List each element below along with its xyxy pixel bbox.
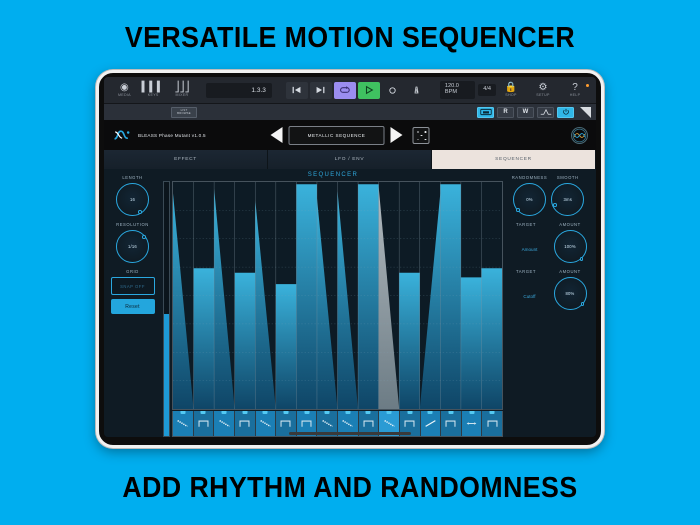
step-handle-10[interactable]: [366, 411, 371, 414]
target2-label: TARGET: [506, 269, 546, 274]
sequencer-step-6[interactable]: [276, 284, 297, 409]
sequencer-step-7[interactable]: [296, 184, 317, 409]
metronome-icon: [412, 85, 421, 95]
step-handle-9[interactable]: [345, 411, 350, 414]
promo-headline-bottom: ADD RHYTHM AND RANDOMNESS: [28, 474, 672, 503]
shop-button-label: SHOP: [505, 93, 516, 97]
panel-resize-handle[interactable]: [580, 107, 591, 118]
amount1-label: AMOUNT: [550, 222, 590, 227]
shape-cell-5[interactable]: [256, 411, 277, 436]
mixer-button[interactable]: ⎦⎦⎦ MIXER: [168, 83, 197, 97]
shape-cell-3[interactable]: [214, 411, 235, 436]
output-level-meter: [163, 181, 170, 437]
shape-icon-ramp-down: [321, 418, 334, 429]
tab-sequencer[interactable]: SEQUENCER: [432, 150, 596, 169]
sequencer-title: SEQUENCER: [163, 172, 503, 178]
sequencer-step-15[interactable]: [461, 277, 482, 409]
shape-icon-ramp-down: [176, 418, 189, 429]
plugin-tab-bar: EFFECT LFO / ENV SEQUENCER: [104, 150, 596, 169]
amount2-label: AMOUNT: [550, 269, 590, 274]
plugin-title: BLEASS Phase Mutant v1.0.5: [138, 133, 206, 138]
sequencer-step-2[interactable]: [194, 268, 215, 409]
amount2-value: 80%: [566, 291, 575, 296]
amount1-knob[interactable]: 100%: [554, 230, 587, 263]
randomness-knob-indicator: [516, 208, 520, 212]
gear-icon: ⚙: [539, 83, 548, 92]
write-automation-button[interactable]: W: [517, 107, 534, 118]
smooth-label: SMOOTH: [557, 175, 579, 180]
shape-icon-line: [465, 418, 478, 429]
bleass-badge[interactable]: [571, 127, 588, 144]
sequencer-step-14[interactable]: [440, 184, 461, 409]
shop-bag-icon: 🔒: [505, 83, 517, 92]
shape-cell-15[interactable]: [462, 411, 483, 436]
transport-controls: [286, 82, 428, 99]
help-button-label: HELP: [570, 93, 581, 97]
shape-icon-square: [279, 418, 292, 429]
randomness-control: RANDOMNESS 0%: [512, 175, 548, 222]
step-handle-8[interactable]: [325, 411, 330, 414]
tablet-device-frame: ◉ MEDIA ▍▍▍ KEYS ⎦⎦⎦ MIXER 1.3.3: [96, 70, 604, 448]
setup-button-label: SETUP: [536, 93, 549, 97]
length-knob[interactable]: 16: [116, 183, 149, 216]
shape-icon-ramp-up: [424, 418, 437, 429]
sequencer-step-16[interactable]: [481, 268, 502, 409]
shape-icon-ramp-down: [383, 418, 396, 429]
target1-value[interactable]: Amount: [510, 247, 550, 252]
sequencer-grid-wrapper: [163, 181, 503, 437]
step-handle-16[interactable]: [490, 411, 495, 414]
record-circle-icon: [388, 86, 397, 95]
shape-cell-13[interactable]: [421, 411, 442, 436]
tablet-screen: ◉ MEDIA ▍▍▍ KEYS ⎦⎦⎦ MIXER 1.3.3: [104, 77, 596, 437]
setup-button[interactable]: ⚙ SETUP: [528, 83, 558, 97]
sequencer-grid-area: [172, 181, 503, 437]
power-icon: [562, 108, 570, 116]
record-button[interactable]: [382, 82, 404, 99]
read-automation-button[interactable]: R: [497, 107, 514, 118]
smooth-knob[interactable]: 3ms: [551, 183, 584, 216]
panel-right-edge: [591, 171, 596, 437]
step-handle-3[interactable]: [222, 411, 227, 414]
media-disc-icon: ◉: [120, 83, 129, 92]
tempo-section: 120.0 BPM 4/4: [440, 81, 496, 98]
preset-navigator: METALLIC SEQUENCE: [271, 126, 430, 145]
shape-icon-square: [300, 418, 313, 429]
sequencer-step-canvas[interactable]: [172, 181, 503, 410]
sequencer-waveform[interactable]: [173, 182, 502, 409]
amount2-knob[interactable]: 80%: [554, 277, 587, 310]
piano-keys-icon: ▍▍▍: [142, 83, 165, 92]
length-value: 16: [130, 197, 135, 202]
amount1-knob-indicator: [580, 257, 584, 261]
tempo-field[interactable]: 120.0 BPM: [440, 81, 475, 98]
target2-value[interactable]: Cutoff: [510, 294, 550, 299]
randomness-knob[interactable]: 0%: [513, 183, 546, 216]
list-browse-button[interactable]: LIST BROWSE: [171, 107, 197, 118]
list-browse-line2: BROWSE: [177, 112, 191, 115]
loop-button[interactable]: [334, 82, 356, 99]
skip-forward-icon: [315, 85, 326, 95]
sequencer-step-4[interactable]: [235, 273, 256, 409]
question-mark-icon: ?: [572, 83, 578, 92]
media-button-label: MEDIA: [118, 93, 131, 97]
preset-name-display[interactable]: METALLIC SEQUENCE: [289, 126, 385, 145]
step-handle-4[interactable]: [242, 411, 247, 414]
home-indicator: [289, 432, 411, 435]
reset-button[interactable]: Reset: [111, 299, 155, 314]
shape-icon-square: [197, 418, 210, 429]
shape-icon-square: [238, 418, 251, 429]
transport-time-display[interactable]: 1.3.3: [206, 83, 272, 98]
shape-icon-ramp-down: [341, 418, 354, 429]
bleass-logo-icon: [112, 128, 131, 142]
promo-headline-top: VERSATILE MOTION SEQUENCER: [28, 24, 672, 53]
resolution-knob[interactable]: 1/16: [116, 230, 149, 263]
resolution-knob-indicator: [142, 235, 146, 239]
resolution-label: RESOLUTION: [116, 222, 149, 227]
step-handle-5[interactable]: [263, 411, 268, 414]
step-handle-2[interactable]: [201, 411, 206, 414]
shape-icon-square: [444, 418, 457, 429]
power-toggle[interactable]: [557, 107, 574, 118]
shape-cell-16[interactable]: [482, 411, 502, 436]
target1-label: TARGET: [506, 222, 546, 227]
shop-button[interactable]: 🔒 SHOP: [496, 83, 526, 97]
keyboard-icon: [480, 108, 492, 116]
metronome-button[interactable]: [406, 82, 428, 99]
length-label: LENGTH: [122, 175, 142, 180]
step-handle-7[interactable]: [304, 411, 309, 414]
step-handle-11[interactable]: [387, 411, 392, 414]
shape-icon-ramp-down: [218, 418, 231, 429]
mixer-faders-icon: ⎦⎦⎦: [174, 83, 189, 92]
help-notification-dot: [586, 84, 589, 87]
skip-back-icon: [291, 85, 302, 95]
automation-curve-icon: [540, 108, 552, 116]
loop-icon: [339, 85, 350, 95]
shape-cell-4[interactable]: [235, 411, 256, 436]
output-level-meter-fill: [164, 314, 169, 436]
randomness-value: 0%: [526, 197, 532, 202]
shape-icon-square: [403, 418, 416, 429]
step-handle-12[interactable]: [407, 411, 412, 414]
step-handle-13[interactable]: [428, 411, 433, 414]
sequencer-center: SEQUENCER: [161, 171, 505, 437]
step-handle-15[interactable]: [469, 411, 474, 414]
smooth-control: SMOOTH 3ms: [551, 175, 584, 222]
play-icon: [364, 85, 374, 95]
keyboard-toggle[interactable]: [477, 107, 494, 118]
shape-icon-square: [486, 418, 499, 429]
track-button-group: R W: [477, 107, 591, 118]
skip-to-end-button[interactable]: [310, 82, 332, 99]
mixer-button-label: MIXER: [176, 93, 189, 97]
daw-toolbar: ◉ MEDIA ▍▍▍ KEYS ⎦⎦⎦ MIXER 1.3.3: [104, 77, 596, 104]
step-handle-14[interactable]: [448, 411, 453, 414]
skip-to-start-button[interactable]: [286, 82, 308, 99]
automation-curve-button[interactable]: [537, 107, 554, 118]
shape-icon-square: [362, 418, 375, 429]
time-signature-field[interactable]: 4/4: [478, 84, 496, 96]
sequencer-left-controls: LENGTH 16 RESOLUTION 1/16 GRID SNAP OFF …: [104, 171, 161, 437]
step-handle-6[interactable]: [283, 411, 288, 414]
shape-cell-1[interactable]: [173, 411, 194, 436]
grid-label: GRID: [126, 269, 139, 274]
daw-track-bar: LIST BROWSE R W: [104, 104, 596, 120]
keys-button-label: KEYS: [148, 93, 159, 97]
amount2-knob-indicator: [581, 302, 585, 306]
tab-effect[interactable]: EFFECT: [104, 150, 268, 169]
keys-button[interactable]: ▍▍▍ KEYS: [139, 83, 168, 97]
sequencer-step-12[interactable]: [399, 273, 420, 409]
tab-lfo-env[interactable]: LFO / ENV: [268, 150, 432, 169]
randomness-label: RANDOMNESS: [512, 175, 548, 180]
media-button[interactable]: ◉ MEDIA: [110, 83, 139, 97]
previous-preset-button[interactable]: [271, 127, 283, 143]
length-knob-indicator: [138, 210, 142, 214]
daw-right-tools: 🔒 SHOP ⚙ SETUP ? HELP: [496, 83, 590, 97]
shape-cell-2[interactable]: [194, 411, 215, 436]
resolution-value: 1/16: [128, 244, 137, 249]
amount1-value: 100%: [564, 244, 576, 249]
randomize-preset-button[interactable]: [413, 127, 430, 144]
help-button[interactable]: ? HELP: [560, 83, 590, 97]
grid-snap-button[interactable]: SNAP OFF: [111, 277, 155, 295]
sequencer-panel: LENGTH 16 RESOLUTION 1/16 GRID SNAP OFF …: [104, 169, 596, 437]
next-preset-button[interactable]: [391, 127, 403, 143]
play-button[interactable]: [358, 82, 380, 99]
plugin-header: BLEASS Phase Mutant v1.0.5 METALLIC SEQU…: [104, 120, 596, 150]
bleass-circle-icon: [572, 128, 587, 143]
shape-icon-ramp-down: [259, 418, 272, 429]
shape-cell-14[interactable]: [441, 411, 462, 436]
smooth-knob-indicator: [553, 203, 557, 207]
step-handle-1[interactable]: [180, 411, 185, 414]
sequencer-step-10[interactable]: [358, 184, 379, 409]
sequencer-right-controls: RANDOMNESS 0% SMOOTH 3ms: [505, 171, 591, 437]
smooth-value: 3ms: [563, 197, 572, 202]
